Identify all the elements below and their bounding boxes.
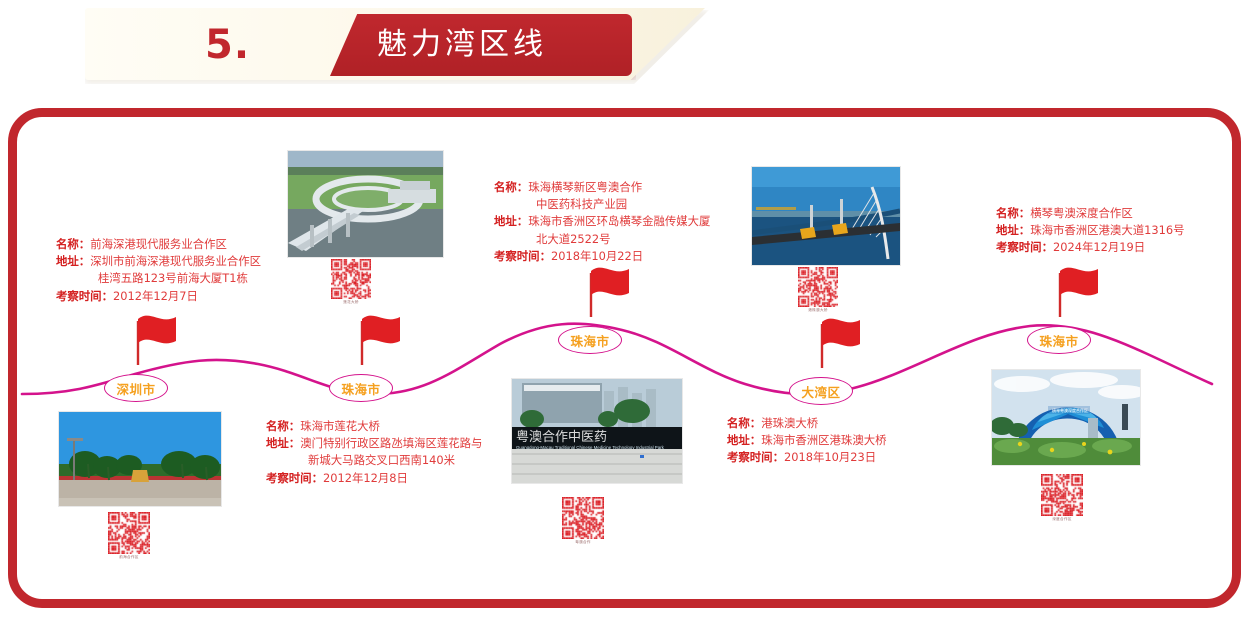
city-label-shenzhen[interactable]: 深圳市: [104, 374, 168, 402]
info-date-label: 考察时间：: [56, 289, 113, 303]
info-name-label: 名称：: [266, 419, 300, 433]
flag-marker-dawanqu: [810, 310, 866, 372]
info-block-hzm-bridge: 名称：港珠澳大桥 地址：珠海市香洲区港珠澳大桥 考察时间：2018年10月23日: [727, 415, 887, 467]
info-addr-line1: 珠海市香洲区港珠澳大桥: [761, 433, 886, 447]
city-label-text: 深圳市: [116, 379, 155, 398]
info-addr-line1: 深圳市前海深港现代服务业合作区: [90, 254, 261, 268]
info-date-label: 考察时间：: [494, 249, 551, 263]
info-date-label: 考察时间：: [266, 471, 323, 485]
info-name-value: 横琴粤澳深度合作区: [1030, 206, 1133, 220]
city-label-text: 珠海市: [1039, 331, 1078, 350]
info-block-qianhai: 名称：前海深港现代服务业合作区 地址：深圳市前海深港现代服务业合作区 桂湾五路1…: [56, 236, 261, 305]
map-stage: 前海合作区 莲花大桥: [0, 0, 1249, 620]
info-addr-label: 地址：: [56, 254, 90, 268]
info-addr-label: 地址：: [494, 214, 528, 228]
qr-code-hengqin-coop[interactable]: [1041, 474, 1083, 516]
info-addr-label: 地址：: [266, 436, 300, 450]
info-date-value: 2012年12月8日: [323, 471, 408, 485]
info-date-value: 2012年12月7日: [113, 289, 198, 303]
info-name-label: 名称：: [996, 206, 1030, 220]
info-addr-line2: 桂湾五路123号前海大厦T1栋: [98, 271, 248, 285]
qr-code-qianhai[interactable]: [108, 512, 150, 554]
flag-marker-zhuhai-3: [1048, 259, 1104, 321]
info-block-lianhua-bridge: 名称：珠海市莲花大桥 地址：澳门特别行政区路氹填海区莲花路与 新城大马路交叉口西…: [266, 418, 482, 487]
info-name-label: 名称：: [494, 180, 528, 194]
qr-code-lianhua-bridge[interactable]: [331, 259, 371, 299]
info-name-value: 港珠澳大桥: [761, 416, 818, 430]
info-block-hengqin-coop: 名称：横琴粤澳深度合作区 地址：珠海市香洲区港澳大道1316号 考察时间：202…: [996, 205, 1184, 257]
photo-hzm-bridge: [751, 166, 901, 266]
photo-hengqin-tcm: 粤澳合作中医药 Guangdong-Macau Traditional Chin…: [511, 378, 683, 484]
info-date-label: 考察时间：: [996, 240, 1053, 254]
city-label-text: 大湾区: [801, 382, 840, 401]
info-addr-line2: 北大道2522号: [536, 232, 611, 246]
flag-marker-zhuhai-1: [350, 307, 406, 369]
city-label-text: 珠海市: [341, 379, 380, 398]
qr-caption-qianhai: 前海合作区: [88, 555, 170, 560]
info-date-label: 考察时间：: [727, 450, 784, 464]
info-date-value: 2018年10月22日: [551, 249, 643, 263]
info-name-label: 名称：: [727, 416, 761, 430]
qr-caption-hengqin-coop: 深度合作区: [1021, 517, 1103, 522]
city-label-zhuhai-1[interactable]: 珠海市: [329, 374, 393, 402]
qr-code-hzm-bridge[interactable]: [798, 267, 838, 307]
svg-text:横琴粤澳深度合作区: 横琴粤澳深度合作区: [1052, 407, 1088, 413]
info-addr-label: 地址：: [996, 223, 1030, 237]
flag-marker-zhuhai-2: [579, 259, 635, 321]
photo-hengqin-coop: 横琴粤澳深度合作区: [991, 369, 1141, 466]
photo-lianhua-bridge: [287, 150, 444, 258]
qr-code-hengqin-tcm[interactable]: [562, 497, 604, 539]
info-addr-line1: 珠海市香洲区港澳大道1316号: [1030, 223, 1184, 237]
info-name-value: 珠海横琴新区粤澳合作: [528, 180, 642, 194]
qr-caption-hengqin-tcm: 粤澳合作: [542, 540, 624, 545]
city-label-dawanqu[interactable]: 大湾区: [789, 377, 853, 405]
info-date-value: 2018年10月23日: [784, 450, 876, 464]
city-label-zhuhai-3[interactable]: 珠海市: [1027, 326, 1091, 354]
flag-marker-shenzhen: [126, 307, 182, 369]
info-addr-line2: 新城大马路交叉口西南140米: [308, 453, 455, 467]
info-name-value: 珠海市莲花大桥: [300, 419, 380, 433]
svg-text:粤澳合作中医药: 粤澳合作中医药: [516, 429, 607, 444]
info-name-value: 前海深港现代服务业合作区: [90, 237, 227, 251]
info-addr-label: 地址：: [727, 433, 761, 447]
info-addr-line1: 珠海市香洲区环岛横琴金融传媒大厦: [528, 214, 710, 228]
info-addr-line1: 澳门特别行政区路氹填海区莲花路与: [300, 436, 482, 450]
info-name-line2: 中医药科技产业园: [536, 197, 627, 211]
city-label-text: 珠海市: [570, 331, 609, 350]
city-label-zhuhai-2[interactable]: 珠海市: [558, 326, 622, 354]
info-date-value: 2024年12月19日: [1053, 240, 1145, 254]
photo-qianhai: [58, 411, 222, 507]
info-name-label: 名称：: [56, 237, 90, 251]
qr-caption-lianhua-bridge: 莲花大桥: [311, 300, 391, 305]
info-block-hengqin-tcm: 名称：珠海横琴新区粤澳合作 中医药科技产业园 地址：珠海市香洲区环岛横琴金融传媒…: [494, 179, 710, 265]
